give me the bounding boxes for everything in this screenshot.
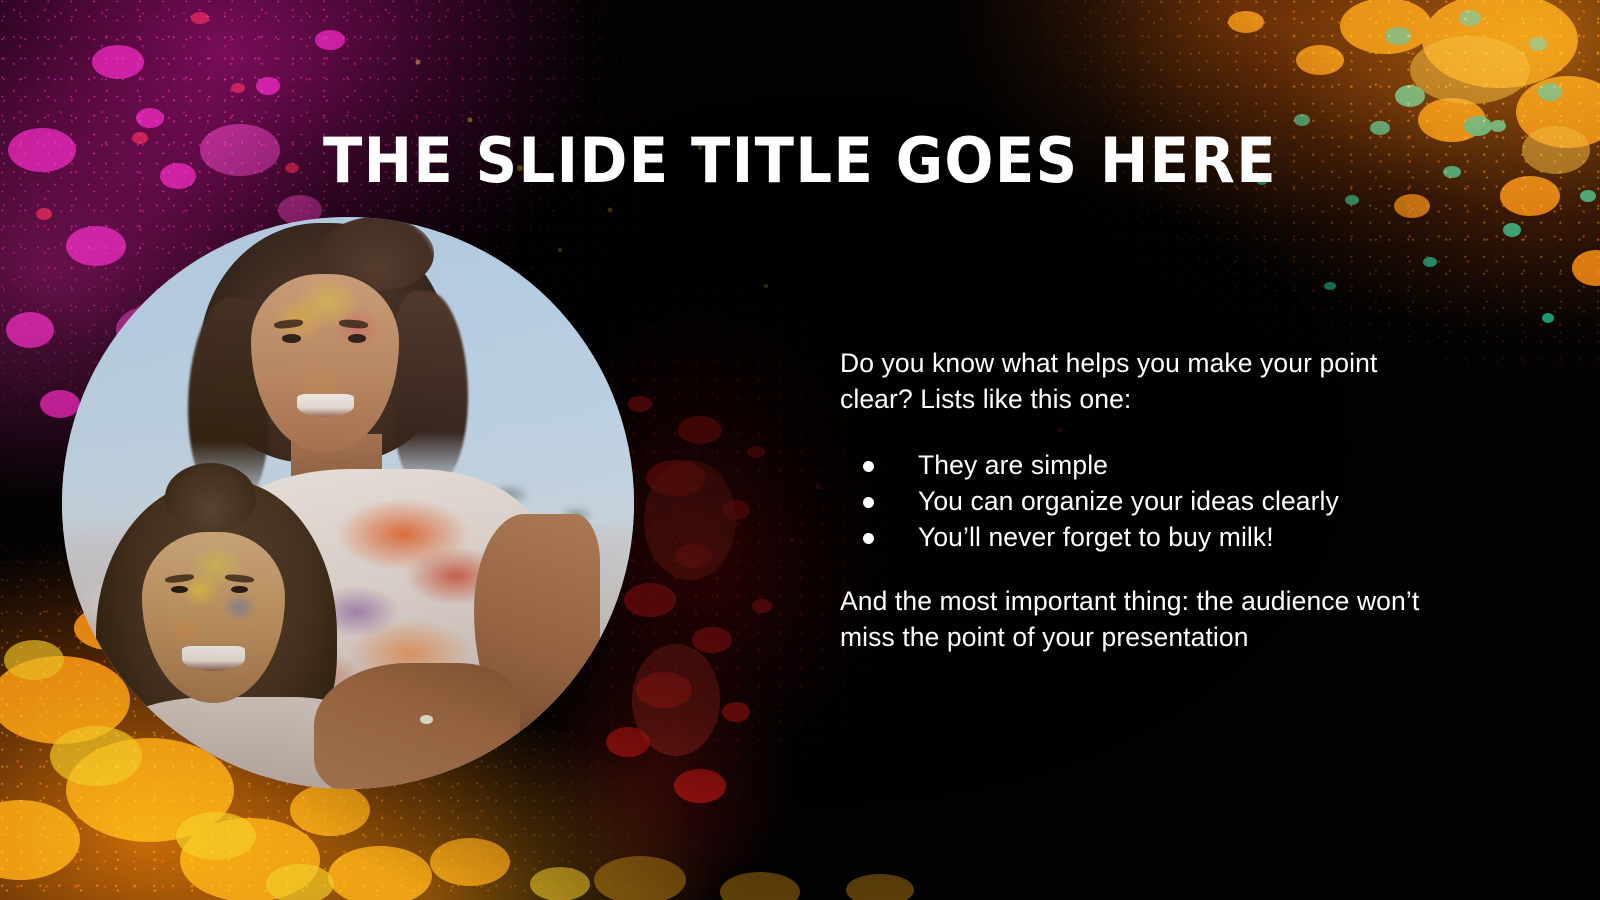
page-title: THE SLIDE TITLE GOES HERE — [56, 130, 1544, 192]
bullet-dot-icon — [863, 497, 874, 508]
list-item-label: They are simple — [918, 450, 1108, 480]
photo-color-grade — [62, 217, 634, 789]
bullet-list: They are simple You can organize your id… — [840, 447, 1444, 555]
slide-canvas: THE SLIDE TITLE GOES HERE Do you — [0, 0, 1600, 900]
bullet-dot-icon — [863, 533, 874, 544]
circular-photo — [62, 217, 634, 789]
list-item: They are simple — [840, 447, 1444, 483]
list-item: You can organize your ideas clearly — [840, 483, 1444, 519]
bullet-dot-icon — [863, 461, 874, 472]
list-item-label: You can organize your ideas clearly — [918, 486, 1339, 516]
intro-paragraph: Do you know what helps you make your poi… — [840, 345, 1444, 418]
list-item: You’ll never forget to buy milk! — [840, 519, 1444, 555]
list-item-label: You’ll never forget to buy milk! — [918, 522, 1274, 552]
body-text-column: Do you know what helps you make your poi… — [840, 318, 1444, 682]
closing-paragraph: And the most important thing: the audien… — [840, 583, 1444, 656]
